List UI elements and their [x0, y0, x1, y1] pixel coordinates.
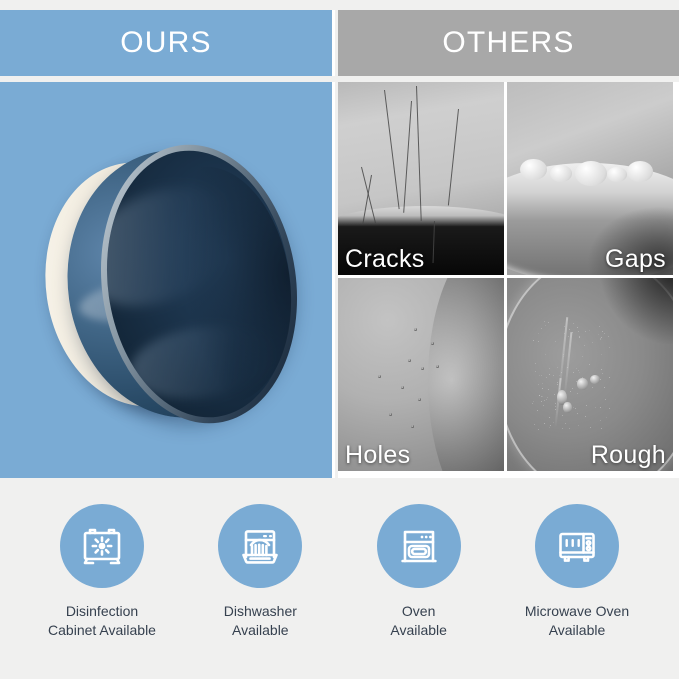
feature-disinfection-cabinet: Disinfection Cabinet Available [26, 504, 178, 640]
surface-grain [573, 323, 574, 324]
ours-header-label: OURS [120, 28, 211, 58]
surface-grain [555, 403, 556, 404]
glaze-gap-blob [550, 165, 572, 182]
surface-grain [609, 408, 610, 409]
disinfection-cabinet-icon [77, 521, 127, 571]
surface-grain [549, 427, 550, 428]
product-bowl-image [46, 140, 296, 430]
rough-corner-shadow [600, 278, 673, 344]
surface-bump [590, 375, 600, 385]
surface-grain [534, 424, 535, 425]
surface-grain [576, 368, 577, 369]
surface-grain [600, 338, 601, 339]
surface-grain [605, 399, 606, 400]
surface-grain [578, 370, 579, 371]
surface-grain [568, 336, 569, 337]
defect-cell-holes: Holes [338, 278, 504, 471]
pinhole [421, 367, 424, 370]
surface-grain [542, 383, 543, 384]
defect-cell-gaps: Gaps [507, 82, 673, 275]
defect-label-holes: Holes [345, 441, 410, 469]
surface-grain [533, 340, 534, 341]
feature-oven: Oven Available [343, 504, 495, 640]
crack-line [447, 109, 458, 205]
surface-grain [578, 331, 579, 332]
surface-grain [586, 405, 587, 406]
surface-grain [601, 369, 602, 370]
surface-grain [600, 420, 601, 421]
dishwasher-icon [235, 521, 285, 571]
surface-grain [577, 393, 578, 394]
surface-grain [562, 415, 563, 416]
feature-icon-circle [377, 504, 461, 588]
surface-grain [539, 375, 540, 376]
crack-line [403, 101, 412, 213]
infographic-page: OURS OTHERS Cracks [0, 0, 679, 679]
defect-label-rough: Rough [591, 441, 666, 469]
surface-grain [589, 364, 590, 365]
feature-dishwasher: Dishwasher Available [184, 504, 336, 640]
surface-grain [538, 333, 539, 334]
defect-label-cracks: Cracks [345, 245, 425, 273]
feature-icon-circle [218, 504, 302, 588]
feature-icon-circle [60, 504, 144, 588]
surface-grain [557, 382, 558, 383]
defect-cell-rough: Rough [507, 278, 673, 471]
feature-label: Disinfection Cabinet Available [48, 602, 156, 640]
glaze-gap-blob [575, 161, 607, 186]
surface-grain [555, 341, 556, 342]
feature-microwave-oven: Microwave Oven Available [501, 504, 653, 640]
feature-icon-circle [535, 504, 619, 588]
microwave-oven-icon [552, 521, 602, 571]
defect-label-gaps: Gaps [605, 245, 666, 273]
feature-label: Dishwasher Available [224, 602, 297, 640]
defect-grid: Cracks Gaps Holes [338, 82, 679, 478]
surface-grain [553, 375, 554, 376]
pinhole [408, 359, 411, 362]
holes-edge-shadow [428, 278, 504, 471]
surface-grain [544, 423, 545, 424]
surface-grain [572, 388, 573, 389]
surface-grain [535, 371, 536, 372]
pinhole [436, 365, 439, 368]
others-header-label: OTHERS [442, 28, 574, 58]
ours-header: OURS [0, 10, 335, 76]
surface-grain [579, 372, 580, 373]
pinhole [431, 342, 434, 345]
surface-grain [609, 377, 610, 378]
pinhole [401, 386, 404, 389]
surface-grain [548, 389, 549, 390]
crack-line [416, 86, 422, 221]
glaze-gap-blob [607, 167, 627, 182]
pinhole [389, 413, 392, 416]
surface-bump [577, 378, 589, 390]
surface-grain [573, 407, 574, 408]
others-header: OTHERS [338, 10, 679, 76]
comparison-area: OURS OTHERS Cracks [0, 10, 679, 478]
surface-grain [550, 425, 551, 426]
oven-icon [394, 521, 444, 571]
surface-grain [604, 387, 605, 388]
crack-line [384, 90, 400, 209]
surface-grain [545, 354, 546, 355]
features-strip: Disinfection Cabinet Available [0, 486, 679, 679]
pinhole [414, 328, 417, 331]
surface-grain [562, 428, 563, 429]
pinhole [411, 425, 414, 428]
pinhole [378, 375, 381, 378]
feature-label: Oven Available [390, 602, 447, 640]
feature-label: Microwave Oven Available [525, 602, 629, 640]
defect-cell-cracks: Cracks [338, 82, 504, 275]
surface-bump [563, 402, 571, 414]
surface-grain [570, 391, 571, 392]
surface-grain [544, 400, 545, 401]
ours-panel [0, 82, 335, 478]
surface-grain [533, 401, 534, 402]
pinhole [418, 398, 421, 401]
others-panel: Cracks Gaps Holes [338, 82, 679, 478]
